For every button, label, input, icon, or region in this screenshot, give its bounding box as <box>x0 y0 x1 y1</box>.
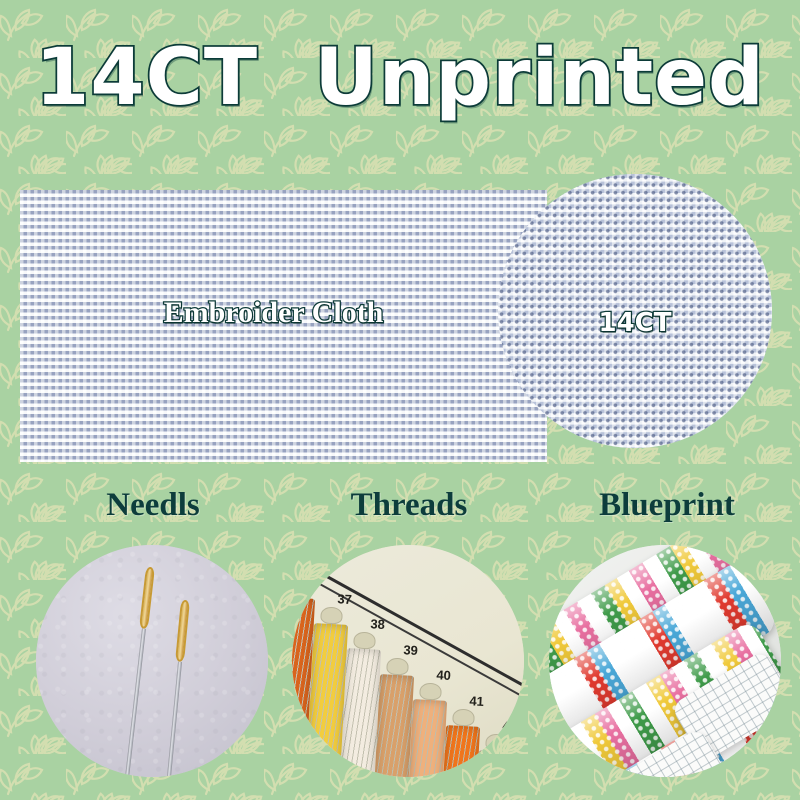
section-heading-threads: Threads <box>288 487 530 524</box>
skein-loop <box>485 733 508 751</box>
count-14ct-label: 14CT <box>498 308 772 338</box>
skein-number: 37 <box>337 591 352 607</box>
skein-loop <box>320 606 343 624</box>
blueprint-photo <box>549 545 781 777</box>
skein-number: 38 <box>370 616 385 632</box>
skein-loop <box>419 682 442 700</box>
skein-number: 42 <box>502 718 517 734</box>
section-heading-blueprint: Blueprint <box>542 487 792 524</box>
skein-number: 36 <box>304 565 319 581</box>
threads-photo: 36373839404142 <box>292 545 524 777</box>
section-heading-needles: Needls <box>32 487 274 524</box>
needles-photo <box>36 545 268 777</box>
skein-number: 39 <box>403 642 418 658</box>
embroider-cloth-label: Embroider Cloth <box>0 296 547 330</box>
skein-loop <box>292 580 310 598</box>
skein-loop <box>353 631 376 649</box>
page-title: 14CT Unprinted <box>0 28 800 128</box>
skein-number: 40 <box>436 667 451 683</box>
skein-loop <box>452 708 475 726</box>
skein-number: 41 <box>469 693 484 709</box>
skein-loop <box>386 657 409 675</box>
